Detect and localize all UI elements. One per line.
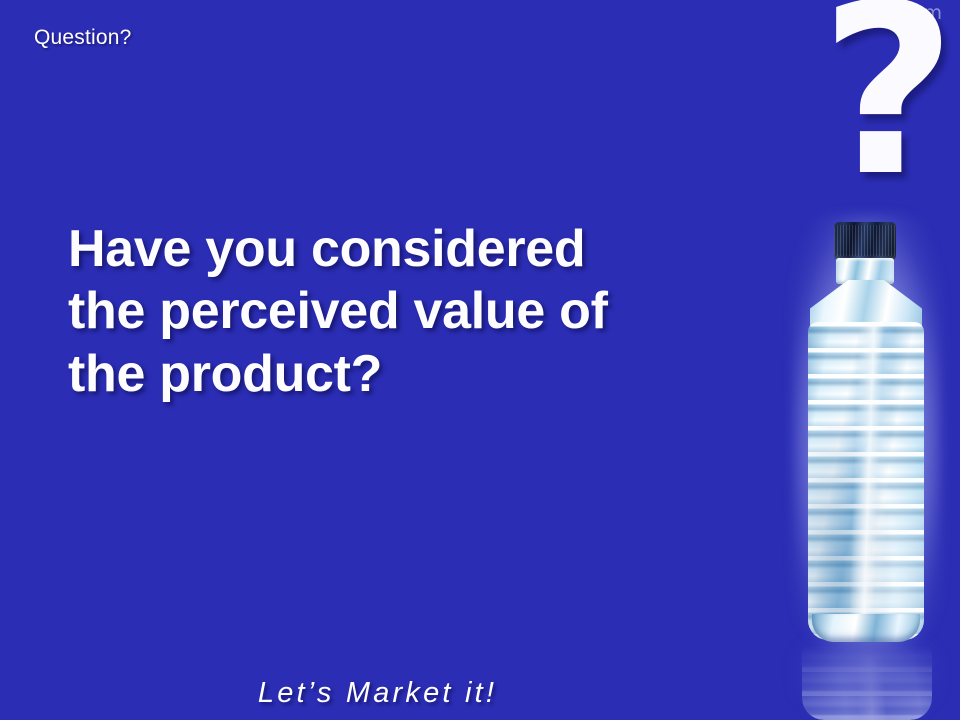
- presentation-slide: Question? m ? Have you considered the pe…: [0, 0, 960, 720]
- water-bottle-image: [792, 214, 942, 720]
- body-line-1: Have you considered: [68, 218, 758, 280]
- footer-tagline: Let’s Market it!: [0, 677, 960, 710]
- body-line-2: the perceived value of: [68, 280, 758, 342]
- slide-body-text: Have you considered the perceived value …: [68, 218, 758, 405]
- slide-header-label: Question?: [34, 26, 132, 50]
- bottle-cap: [834, 222, 896, 260]
- question-mark-icon: ?: [820, 0, 956, 209]
- bottle-graphic: [802, 222, 932, 640]
- bottle-shoulder: [810, 280, 922, 326]
- body-line-3: the product?: [68, 343, 758, 405]
- bottle-body: [808, 322, 924, 640]
